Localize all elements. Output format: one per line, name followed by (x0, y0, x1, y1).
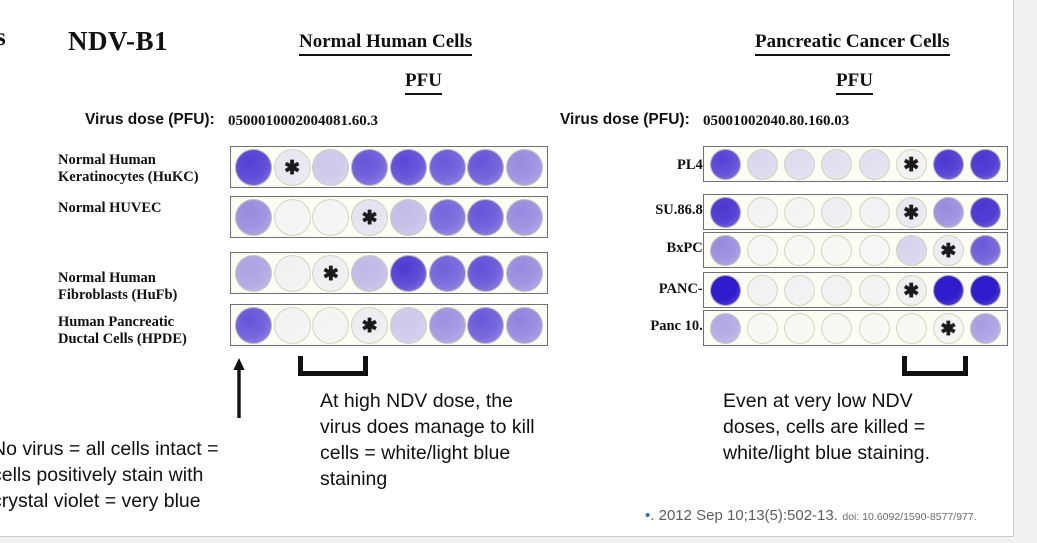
dose-value-right-4: 4 (771, 113, 779, 130)
well-cell (234, 255, 273, 291)
well-right-0-1[interactable] (747, 149, 778, 180)
well-right-4-1[interactable] (747, 313, 778, 344)
well-right-2-6[interactable]: ✱ (933, 235, 964, 266)
well-left-1-7[interactable] (506, 199, 543, 236)
panel-title-normal-human-cells: Normal Human Cells (299, 31, 472, 56)
well-cell (707, 275, 744, 305)
well-cell (930, 149, 967, 179)
well-left-2-1[interactable] (274, 255, 311, 292)
well-right-4-0[interactable] (710, 313, 741, 344)
well-cell (467, 149, 506, 185)
plate-row-right-3[interactable]: ✱ (703, 272, 1008, 308)
well-left-1-4[interactable] (390, 199, 427, 236)
well-right-0-2[interactable] (784, 149, 815, 180)
dose-values-right: 05001002040.80.160.03 (703, 113, 1008, 130)
well-cell (428, 307, 467, 343)
well-cell: ✱ (893, 149, 930, 179)
well-cell (234, 307, 273, 343)
cell-line-label-line: Ductal Cells (HPDE) (58, 331, 187, 348)
well-left-0-6[interactable] (467, 149, 504, 186)
dose-value-right-3: 20 (756, 113, 771, 130)
well-cell (467, 199, 506, 235)
well-left-2-4[interactable] (390, 255, 427, 292)
well-cell (707, 149, 744, 179)
panel-title-pancreatic-cancer-cells: Pancreatic Cancer Cells (755, 31, 950, 56)
plate-row-left-0[interactable]: ✱ (230, 146, 548, 188)
dose-value-left-7: 0.3 (359, 113, 378, 130)
citation-line: •. 2012 Sep 10;13(5):502-13. doi: 10.609… (645, 507, 977, 525)
well-cell (967, 313, 1004, 343)
well-left-3-5[interactable] (429, 307, 466, 344)
well-cell: ✱ (350, 199, 389, 235)
plate-row-right-0[interactable]: ✱ (703, 146, 1008, 182)
well-cell (273, 255, 312, 291)
well-right-2-0[interactable] (710, 235, 741, 266)
well-left-3-6[interactable] (467, 307, 504, 344)
well-cell (389, 307, 428, 343)
virus-dose-label-right: Virus dose (PFU): (560, 111, 690, 129)
well-right-2-2[interactable] (784, 235, 815, 266)
well-right-3-4[interactable] (859, 275, 890, 306)
right-page-margin (1014, 0, 1037, 543)
cell-line-label-line: Normal Human (58, 270, 177, 287)
well-cell (234, 149, 273, 185)
up-arrow-annotation (232, 358, 246, 418)
pfu-unit-label-right: PFU (836, 70, 873, 95)
plate-row-left-1[interactable]: ✱ (230, 196, 548, 238)
well-cell (967, 197, 1004, 227)
well-left-3-1[interactable] (274, 307, 311, 344)
well-cell (505, 255, 544, 291)
well-left-0-3[interactable] (351, 149, 388, 186)
well-left-1-0[interactable] (235, 199, 272, 236)
cell-line-label-line: SU.86.86 (620, 202, 710, 218)
well-cell (856, 313, 893, 343)
pfu-unit-label-left: PFU (405, 70, 442, 95)
cell-line-label-line: PL45 (620, 157, 710, 173)
well-right-4-2[interactable] (784, 313, 815, 344)
well-right-2-5[interactable] (896, 235, 927, 266)
cell-line-label-line: Human Pancreatic (58, 314, 187, 331)
cell-line-label-left-2: Normal HumanFibroblasts (HuFb) (58, 270, 177, 304)
well-left-1-1[interactable] (274, 199, 311, 236)
cell-line-label-right-2: BxPC3 (620, 240, 710, 256)
well-right-1-0[interactable] (710, 197, 741, 228)
well-right-3-6[interactable] (933, 275, 964, 306)
plate-row-right-1[interactable]: ✱ (703, 194, 1008, 230)
cell-line-label-left-0: Normal HumanKeratinocytes (HuKC) (58, 152, 199, 186)
well-cell (312, 149, 351, 185)
cell-line-label-line: PANC-1 (620, 281, 710, 297)
well-cell (428, 255, 467, 291)
well-right-1-7[interactable] (970, 197, 1001, 228)
well-right-0-6[interactable] (933, 149, 964, 180)
clipped-text-fragment: s (0, 24, 6, 52)
well-cell (818, 235, 855, 265)
well-right-1-3[interactable] (821, 197, 852, 228)
cell-line-label-line: Keratinocytes (HuKC) (58, 169, 199, 186)
well-cell: ✱ (893, 197, 930, 227)
cell-line-label-line: Panc 10.0 (620, 318, 710, 334)
well-cell (781, 313, 818, 343)
well-left-0-7[interactable] (506, 149, 543, 186)
well-cell (967, 275, 1004, 305)
slide-canvas: s NDV-B1 Normal Human Cells Pancreatic C… (0, 0, 1014, 537)
plate-row-right-2[interactable]: ✱ (703, 232, 1008, 268)
dose-value-right-6: 0.16 (797, 113, 823, 130)
plate-row-left-2[interactable]: ✱ (230, 252, 548, 294)
well-left-1-2[interactable] (312, 199, 349, 236)
dose-value-left-4: 40 (318, 113, 333, 130)
well-left-2-6[interactable] (467, 255, 504, 292)
cell-line-label-line: Fibroblasts (HuFb) (58, 287, 177, 304)
well-left-2-2[interactable]: ✱ (312, 255, 349, 292)
virus-dose-label-left: Virus dose (PFU): (85, 111, 215, 129)
well-left-0-1[interactable]: ✱ (274, 149, 311, 186)
well-cell (467, 307, 506, 343)
well-cell (312, 307, 351, 343)
cell-line-label-right-3: PANC-1 (620, 281, 710, 297)
well-right-0-3[interactable] (821, 149, 852, 180)
cell-line-label-left-1: Normal HUVEC (58, 200, 162, 217)
well-cell (856, 149, 893, 179)
well-cell (234, 199, 273, 235)
well-right-1-6[interactable] (933, 197, 964, 228)
well-cell (744, 197, 781, 227)
well-cell (893, 313, 930, 343)
well-cell (467, 255, 506, 291)
well-left-3-4[interactable] (390, 307, 427, 344)
well-right-0-4[interactable] (859, 149, 890, 180)
note-no-virus: No virus = all cells intact = cells posi… (0, 436, 262, 514)
well-left-2-0[interactable] (235, 255, 272, 292)
bracket-high-dose (298, 356, 368, 376)
well-cell (707, 313, 744, 343)
dose-value-right-0: 0 (703, 113, 711, 130)
well-cell (350, 149, 389, 185)
well-cell (389, 255, 428, 291)
well-cell: ✱ (930, 313, 967, 343)
well-cell (505, 149, 544, 185)
well-cell (312, 199, 351, 235)
well-right-1-2[interactable] (784, 197, 815, 228)
well-cell (818, 313, 855, 343)
well-right-4-3[interactable] (821, 313, 852, 344)
dose-value-right-7: 0.03 (823, 113, 849, 130)
well-cell: ✱ (312, 255, 351, 291)
well-right-0-5[interactable]: ✱ (896, 149, 927, 180)
well-cell: ✱ (930, 235, 967, 265)
well-cell (744, 313, 781, 343)
well-right-0-0[interactable] (710, 149, 741, 180)
well-right-2-1[interactable] (747, 235, 778, 266)
well-right-1-1[interactable] (747, 197, 778, 228)
well-cell (967, 235, 1004, 265)
bottom-page-margin (0, 537, 1014, 543)
cell-line-label-line: Normal HUVEC (58, 200, 162, 217)
well-cell: ✱ (893, 275, 930, 305)
well-right-2-3[interactable] (821, 235, 852, 266)
dose-values-left: 0500010002004081.60.3 (228, 113, 548, 130)
dose-value-right-2: 100 (733, 113, 756, 130)
well-left-2-3[interactable] (351, 255, 388, 292)
dose-value-right-1: 500 (711, 113, 734, 130)
well-right-0-7[interactable] (970, 149, 1001, 180)
dose-value-left-6: 1.6 (341, 113, 360, 130)
well-cell (744, 149, 781, 179)
well-right-1-4[interactable] (859, 197, 890, 228)
virus-name-title: NDV-B1 (68, 26, 168, 57)
well-cell (505, 307, 544, 343)
well-cell (389, 199, 428, 235)
note-low-dose: Even at very low NDV doses, cells are ki… (723, 388, 953, 466)
plate-row-left-3[interactable]: ✱ (230, 304, 548, 346)
well-cell (856, 235, 893, 265)
well-right-3-5[interactable]: ✱ (896, 275, 927, 306)
dose-value-right-5: 0.8 (778, 113, 797, 130)
cell-line-label-line: BxPC3 (620, 240, 710, 256)
well-right-3-3[interactable] (821, 275, 852, 306)
well-right-4-5[interactable] (896, 313, 927, 344)
well-cell (893, 235, 930, 265)
well-left-0-5[interactable] (429, 149, 466, 186)
cell-line-label-right-1: SU.86.86 (620, 202, 710, 218)
well-left-1-3[interactable]: ✱ (351, 199, 388, 236)
well-right-3-0[interactable] (710, 275, 741, 306)
well-cell (818, 149, 855, 179)
dose-value-left-5: 8 (333, 113, 341, 130)
well-left-2-7[interactable] (506, 255, 543, 292)
cell-line-label-right-4: Panc 10.0 (620, 318, 710, 334)
well-right-3-2[interactable] (784, 275, 815, 306)
well-cell: ✱ (350, 307, 389, 343)
well-right-3-7[interactable] (970, 275, 1001, 306)
well-left-0-4[interactable] (390, 149, 427, 186)
well-cell (930, 275, 967, 305)
well-cell (781, 275, 818, 305)
well-cell (781, 149, 818, 179)
well-cell (428, 199, 467, 235)
well-cell (350, 255, 389, 291)
well-cell (781, 235, 818, 265)
well-cell (273, 307, 312, 343)
well-cell (930, 197, 967, 227)
well-right-2-7[interactable] (970, 235, 1001, 266)
note-high-dose: At high NDV dose, the virus does manage … (320, 388, 535, 492)
well-right-4-4[interactable] (859, 313, 890, 344)
citation-doi: doi: 10.6092/1590-8577/977. (842, 511, 976, 523)
dose-value-left-0: 0 (228, 113, 236, 130)
plate-row-right-4[interactable]: ✱ (703, 310, 1008, 346)
well-left-3-2[interactable] (312, 307, 349, 344)
well-right-4-6[interactable]: ✱ (933, 313, 964, 344)
well-cell (273, 199, 312, 235)
well-left-3-0[interactable] (235, 307, 272, 344)
well-cell (707, 235, 744, 265)
well-left-2-5[interactable] (429, 255, 466, 292)
citation-reference: . 2012 Sep 10;13(5):502-13. (650, 507, 838, 524)
well-cell (856, 275, 893, 305)
well-left-3-7[interactable] (506, 307, 543, 344)
dose-value-left-2: 1000 (266, 113, 296, 130)
well-left-0-0[interactable] (235, 149, 272, 186)
well-cell (818, 197, 855, 227)
dose-value-left-1: 5000 (236, 113, 266, 130)
well-cell: ✱ (273, 149, 312, 185)
well-left-0-2[interactable] (312, 149, 349, 186)
bracket-low-dose (902, 356, 968, 376)
well-cell (744, 235, 781, 265)
well-cell (707, 197, 744, 227)
well-cell (505, 199, 544, 235)
well-left-3-3[interactable]: ✱ (351, 307, 388, 344)
well-cell (781, 197, 818, 227)
cell-line-label-line: Normal Human (58, 152, 199, 169)
well-left-1-5[interactable] (429, 199, 466, 236)
well-cell (856, 197, 893, 227)
well-right-4-7[interactable] (970, 313, 1001, 344)
well-cell (967, 149, 1004, 179)
dose-value-left-3: 200 (296, 113, 319, 130)
cell-line-label-right-0: PL45 (620, 157, 710, 173)
well-cell (428, 149, 467, 185)
well-right-1-5[interactable]: ✱ (896, 197, 927, 228)
well-right-3-1[interactable] (747, 275, 778, 306)
well-cell (744, 275, 781, 305)
well-right-2-4[interactable] (859, 235, 890, 266)
well-cell (389, 149, 428, 185)
well-left-1-6[interactable] (467, 199, 504, 236)
well-cell (818, 275, 855, 305)
cell-line-label-left-3: Human PancreaticDuctal Cells (HPDE) (58, 314, 187, 348)
